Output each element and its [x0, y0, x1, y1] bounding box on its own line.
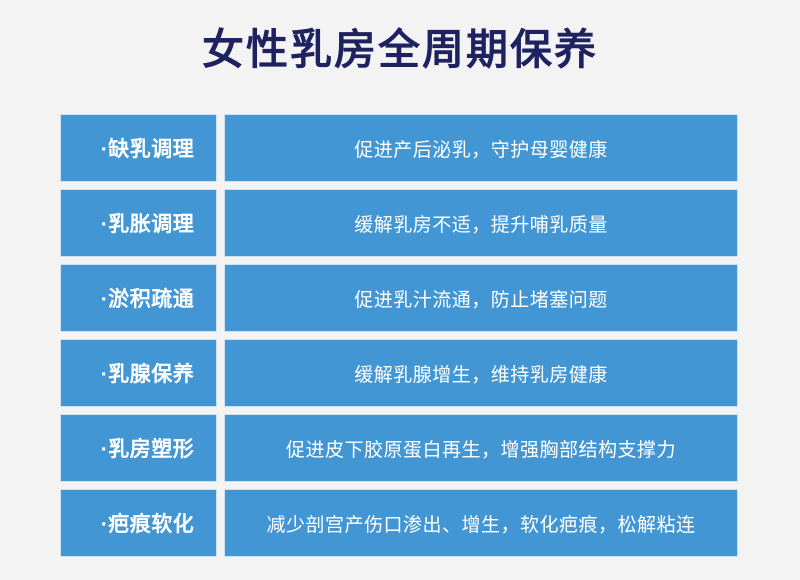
service-description-cell-3[interactable]: 促进乳汁流通，防止堵塞问题: [224, 264, 738, 332]
service-description-cell-4[interactable]: 缓解乳腺增生，维持乳房健康: [224, 339, 738, 407]
column-divider: [217, 414, 224, 482]
list-item: ·淤积疏通 促进乳汁流通，防止堵塞问题: [60, 264, 738, 332]
service-description-text: 促进皮下胶原蛋白再生，增强胸部结构支撑力: [286, 435, 676, 462]
service-label-text: ·乳房塑形: [101, 433, 195, 463]
list-item: ·缺乳调理 促进产后泌乳，守护母婴健康: [60, 114, 738, 182]
service-description-text: 促进产后泌乳，守护母婴健康: [354, 135, 608, 162]
list-item: ·乳腺保养 缓解乳腺增生，维持乳房健康: [60, 339, 738, 407]
list-item: ·疤痕软化 减少剖宫产伤口渗出、增生，软化疤痕，松解粘连: [60, 489, 738, 557]
list-item: ·乳胀调理 缓解乳房不适，提升哺乳质量: [60, 189, 738, 257]
column-divider: [217, 489, 224, 557]
service-description-cell-2[interactable]: 缓解乳房不适，提升哺乳质量: [224, 189, 738, 257]
service-label-cell-4[interactable]: ·乳腺保养: [60, 339, 217, 407]
service-label-cell-1[interactable]: ·缺乳调理: [60, 114, 217, 182]
list-item: ·乳房塑形 促进皮下胶原蛋白再生，增强胸部结构支撑力: [60, 414, 738, 482]
column-divider: [217, 264, 224, 332]
column-divider: [217, 189, 224, 257]
service-label-text: ·缺乳调理: [101, 133, 195, 163]
service-list: ·缺乳调理 促进产后泌乳，守护母婴健康 ·乳胀调理 缓解乳房不适，提升哺乳质量 …: [60, 114, 738, 557]
service-label-text: ·疤痕软化: [101, 508, 195, 538]
service-description-text: 促进乳汁流通，防止堵塞问题: [354, 285, 608, 312]
column-divider: [217, 339, 224, 407]
poster-canvas: 女性乳房全周期保养 ·缺乳调理 促进产后泌乳，守护母婴健康 ·乳胀调理 缓解乳房…: [0, 0, 800, 580]
service-description-text: 缓解乳房不适，提升哺乳质量: [354, 210, 608, 237]
service-label-cell-5[interactable]: ·乳房塑形: [60, 414, 217, 482]
service-label-cell-6[interactable]: ·疤痕软化: [60, 489, 217, 557]
service-description-text: 减少剖宫产伤口渗出、增生，软化疤痕，松解粘连: [266, 510, 695, 537]
service-label-text: ·乳胀调理: [101, 208, 195, 238]
service-label-cell-2[interactable]: ·乳胀调理: [60, 189, 217, 257]
service-description-cell-6[interactable]: 减少剖宫产伤口渗出、增生，软化疤痕，松解粘连: [224, 489, 738, 557]
service-label-text: ·淤积疏通: [101, 283, 195, 313]
column-divider: [217, 114, 224, 182]
service-label-cell-3[interactable]: ·淤积疏通: [60, 264, 217, 332]
service-description-cell-1[interactable]: 促进产后泌乳，守护母婴健康: [224, 114, 738, 182]
page-title: 女性乳房全周期保养: [0, 22, 800, 78]
service-description-text: 缓解乳腺增生，维持乳房健康: [354, 360, 608, 387]
service-label-text: ·乳腺保养: [101, 358, 195, 388]
service-description-cell-5[interactable]: 促进皮下胶原蛋白再生，增强胸部结构支撑力: [224, 414, 738, 482]
